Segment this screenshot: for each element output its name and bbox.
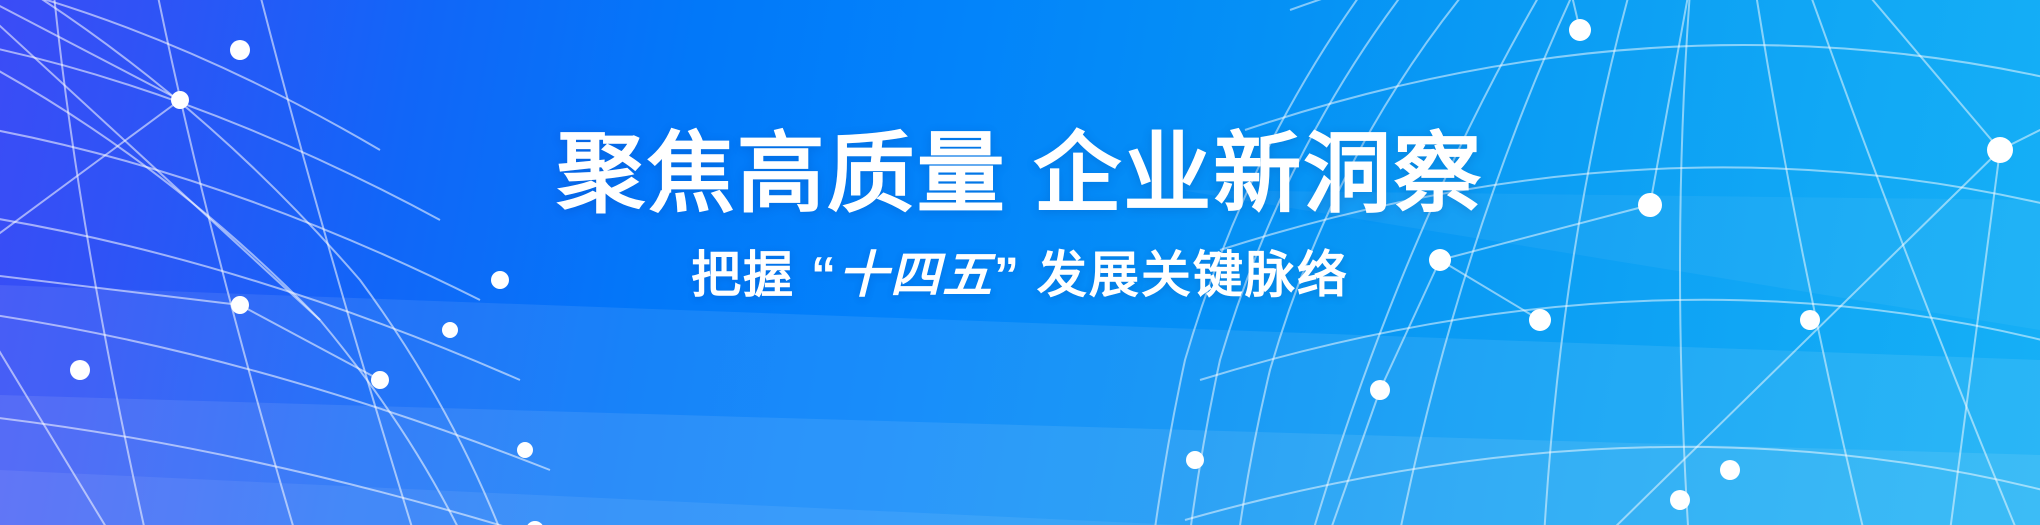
banner-text-block: 聚焦高质量 企业新洞察 把握 “十四五” 发展关键脉络: [0, 128, 2040, 303]
promo-banner: 聚焦高质量 企业新洞察 把握 “十四五” 发展关键脉络: [0, 0, 2040, 525]
banner-main-title: 聚焦高质量 企业新洞察: [0, 128, 2040, 220]
wave-band-2: [0, 395, 2040, 525]
wave-band-1: [0, 285, 2040, 525]
banner-sub-title: 把握 “十四五” 发展关键脉络: [0, 248, 2040, 303]
sub-title-prefix: 把握 “: [691, 247, 838, 303]
wave-band-3: [0, 470, 1180, 525]
sub-title-suffix: ” 发展关键脉络: [994, 247, 1349, 303]
sub-title-emphasis: 十四五: [838, 247, 994, 303]
